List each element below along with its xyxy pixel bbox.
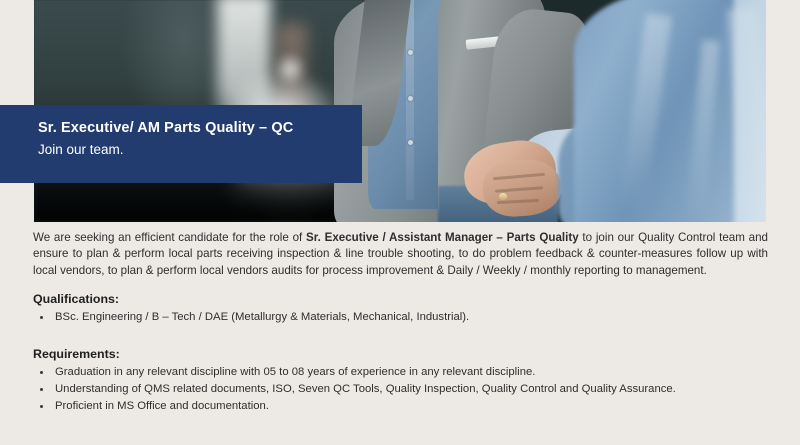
list-item-text: Graduation in any relevant discipline wi… (55, 366, 535, 378)
list-item-text: BSc. Engineering / B – Tech / DAE (Metal… (55, 311, 469, 323)
requirements-list: Graduation in any relevant discipline wi… (33, 364, 768, 415)
requirements-heading: Requirements: (33, 347, 768, 361)
person-right-back (734, 0, 766, 222)
shirt-button (408, 96, 413, 101)
shirt-button (408, 140, 413, 145)
bullet-icon (40, 316, 43, 319)
list-item: BSc. Engineering / B – Tech / DAE (Metal… (33, 309, 768, 326)
background-bokeh (273, 52, 307, 86)
intro-paragraph: We are seeking an efficient candidate fo… (33, 230, 768, 279)
banner-subtitle: Join our team. (38, 141, 362, 159)
job-posting-page: Sr. Executive/ AM Parts Quality – QC Joi… (0, 0, 800, 445)
list-item: Proficient in MS Office and documentatio… (33, 398, 768, 415)
intro-lead: We are seeking an efficient candidate fo… (33, 231, 306, 244)
job-description-body: We are seeking an efficient candidate fo… (33, 230, 768, 415)
shirt-button (408, 50, 413, 55)
qualifications-list: BSc. Engineering / B – Tech / DAE (Metal… (33, 309, 768, 326)
intro-role-bold: Sr. Executive / Assistant Manager – Part… (306, 231, 579, 244)
job-title-banner: Sr. Executive/ AM Parts Quality – QC Joi… (0, 105, 362, 183)
bullet-icon (40, 388, 43, 391)
requirements-section: Requirements: Graduation in any relevant… (33, 347, 768, 415)
list-item: Graduation in any relevant discipline wi… (33, 364, 768, 381)
qualifications-heading: Qualifications: (33, 292, 768, 306)
list-item-text: Proficient in MS Office and documentatio… (55, 400, 269, 412)
list-item-text: Understanding of QMS related documents, … (55, 383, 676, 395)
bullet-icon (40, 371, 43, 374)
wedding-ring (499, 193, 507, 200)
qualifications-section: Qualifications: BSc. Engineering / B – T… (33, 292, 768, 326)
job-title: Sr. Executive/ AM Parts Quality – QC (38, 119, 362, 137)
bullet-icon (40, 405, 43, 408)
list-item: Understanding of QMS related documents, … (33, 381, 768, 398)
